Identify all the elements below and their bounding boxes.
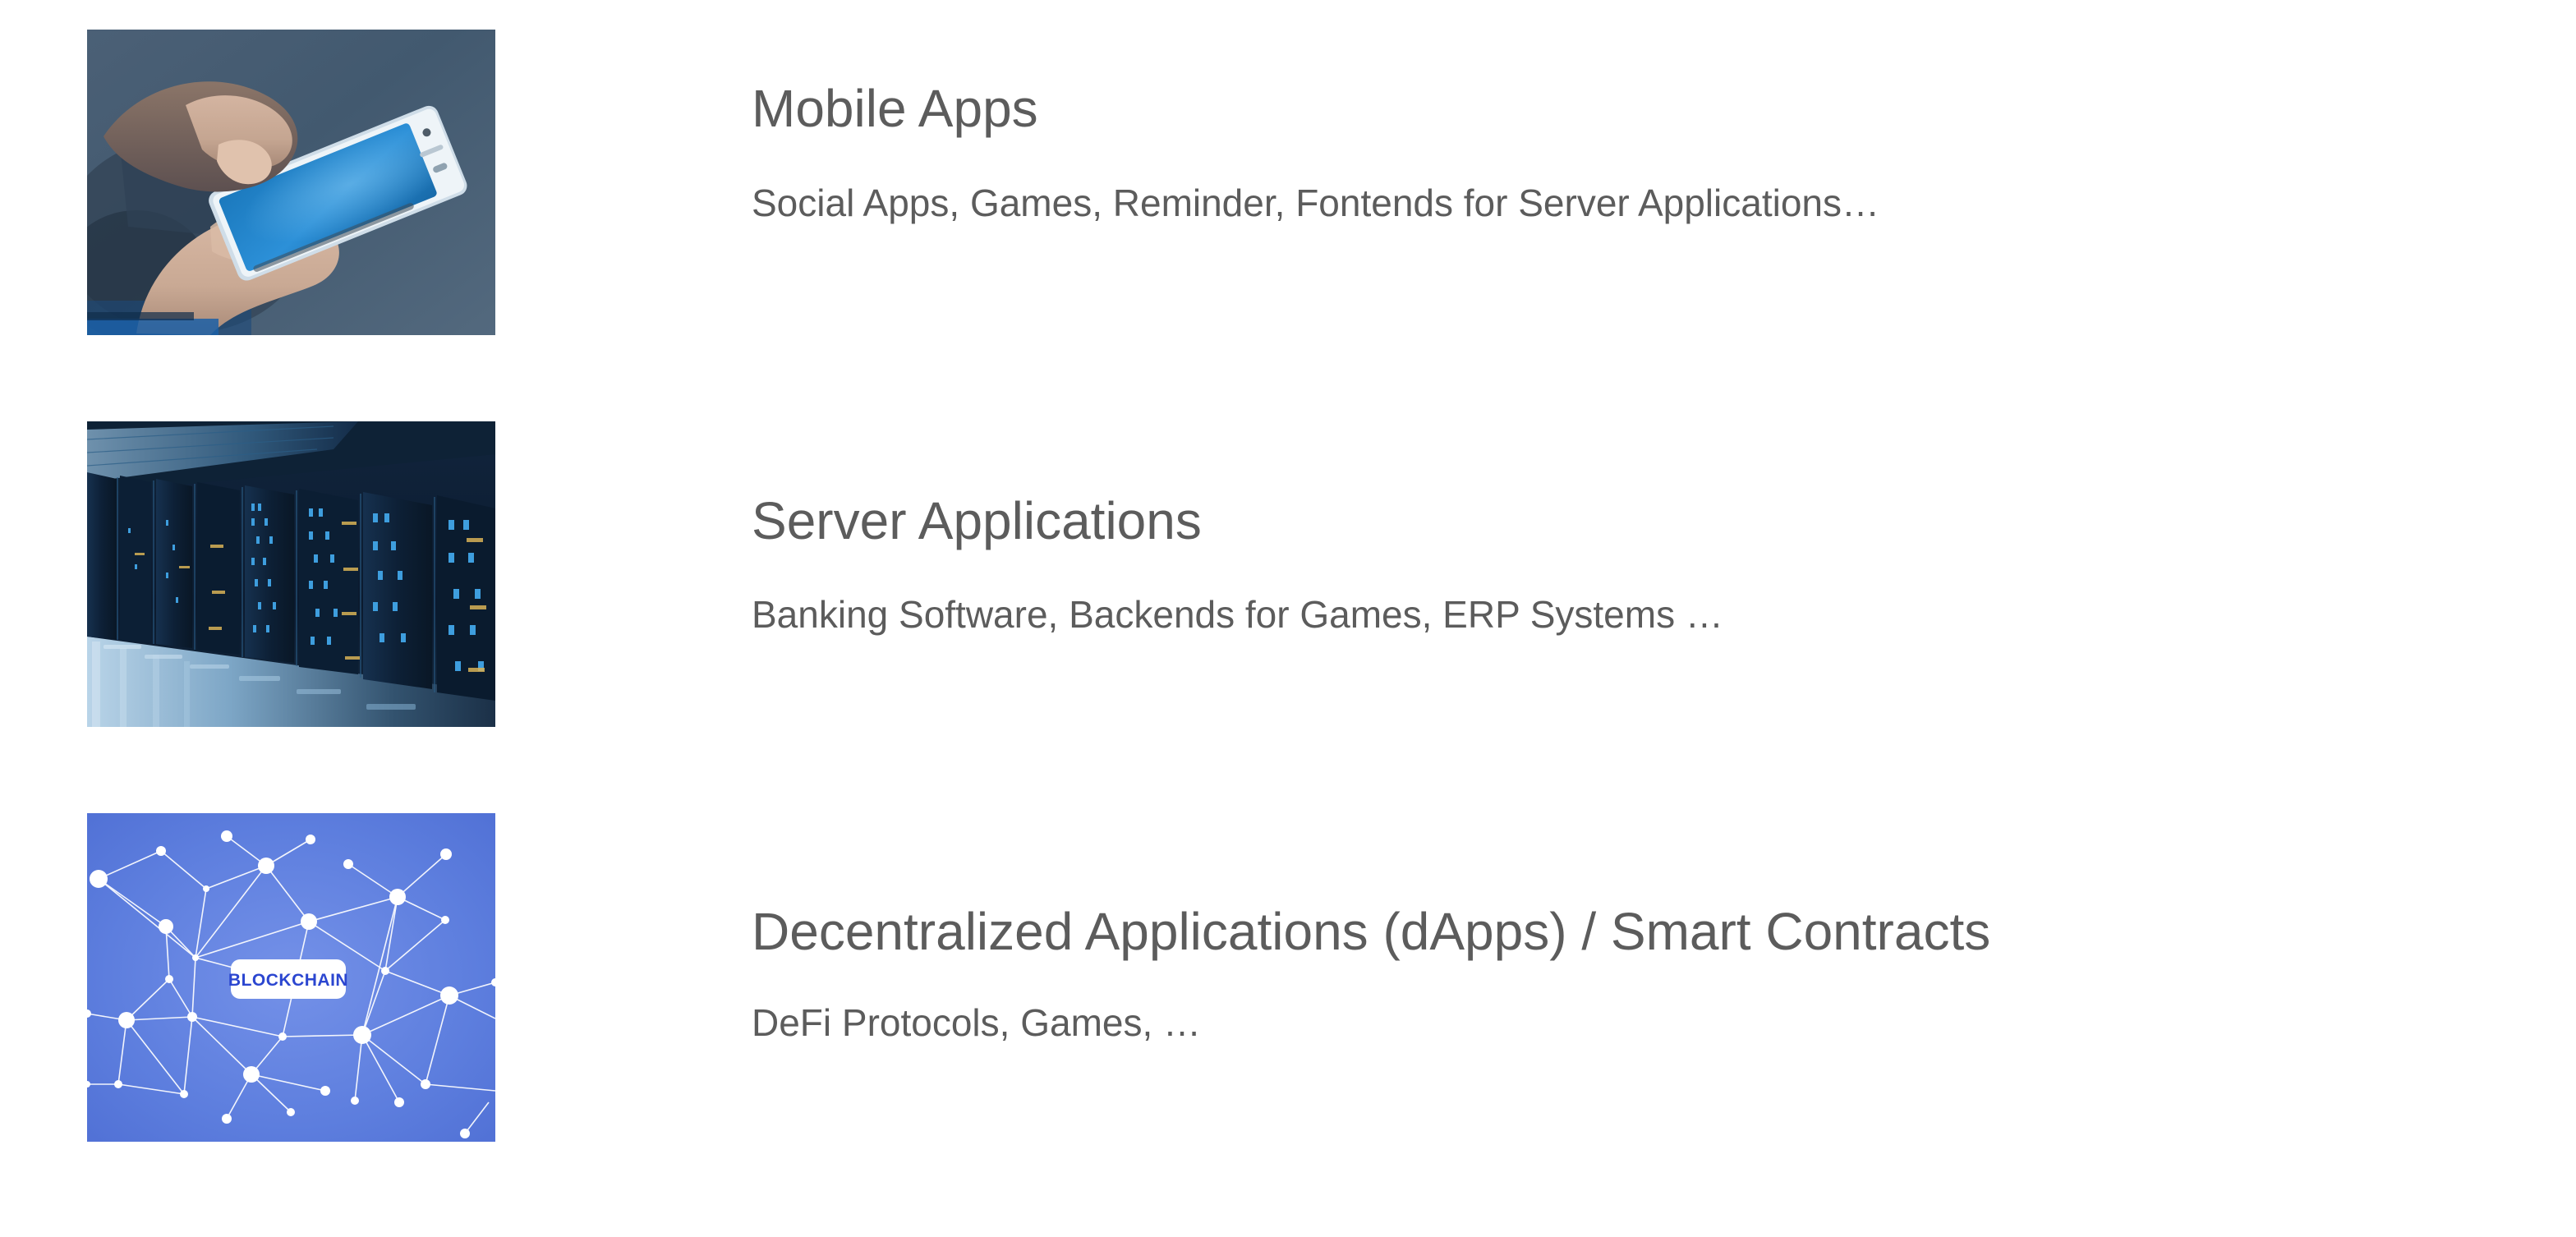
mobile-apps-photo [87,30,495,335]
category-subtitle-server-applications: Banking Software, Backends for Games, ER… [752,596,1723,633]
category-title-mobile-apps: Mobile Apps [752,82,1038,135]
category-title-decentralized-applications: Decentralized Applications (dApps) / Sma… [752,905,1990,958]
server-room-photo [87,421,495,727]
blockchain-badge-label: BLOCKCHAIN [228,971,348,990]
category-subtitle-decentralized-applications: DeFi Protocols, Games, … [752,1004,1201,1042]
category-title-server-applications: Server Applications [752,494,1202,547]
blockchain-network-graphic: BLOCKCHAIN [87,813,495,1142]
blockchain-badge: BLOCKCHAIN [228,959,348,999]
category-list-page: Mobile Apps Social Apps, Games, Reminder… [0,0,2576,1237]
category-subtitle-mobile-apps: Social Apps, Games, Reminder, Fontends f… [752,184,1879,222]
